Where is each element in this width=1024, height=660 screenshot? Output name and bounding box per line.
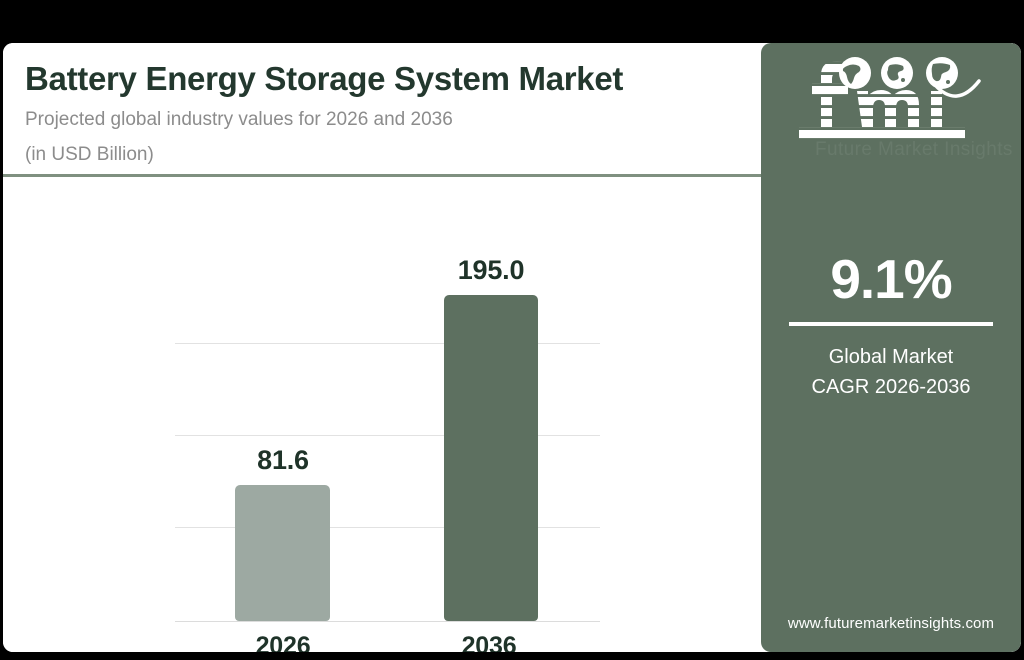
chart-subtitle-line1: Projected global industry values for 202… (25, 105, 761, 134)
globe-europe-icon (881, 57, 913, 89)
chart-header: Battery Energy Storage System Market Pro… (3, 43, 761, 176)
website-url[interactable]: www.futuremarketinsights.com (761, 615, 1021, 632)
bar-value-2036: 195.0 (421, 255, 561, 286)
chart-bars: 81.6 2026 195.0 2036 (3, 177, 761, 652)
cagr-value: 9.1% (761, 248, 1021, 310)
bar-label-2026: 2026 (213, 632, 353, 652)
logo-tagline: Future Market Insights (815, 139, 1015, 161)
chart-subtitle-line2: (in USD Billion) (25, 140, 761, 169)
cagr-block: 9.1% Global Market CAGR 2026-2036 (761, 248, 1021, 402)
cagr-caption-line1: Global Market (761, 342, 1021, 372)
bar-chart-plot-area: 81.6 2026 195.0 2036 (3, 177, 761, 652)
globe-asia-icon (926, 57, 958, 89)
bar-2026[interactable] (235, 485, 330, 621)
bar-value-2026: 81.6 (213, 445, 353, 476)
content-card: Battery Energy Storage System Market Pro… (3, 43, 1021, 652)
infographic-root: Battery Energy Storage System Market Pro… (0, 0, 1024, 660)
bar-label-2036: 2036 (419, 632, 559, 652)
bar-2036[interactable] (444, 295, 538, 621)
fmi-logo: Future Market Insights (785, 53, 997, 165)
page-title: Battery Energy Storage System Market (25, 59, 761, 99)
brand-side-panel: Future Market Insights 9.1% Global Marke… (761, 43, 1021, 652)
cagr-divider (789, 322, 993, 326)
cagr-caption-line2: CAGR 2026-2036 (761, 372, 1021, 402)
globe-americas-icon (839, 57, 871, 89)
